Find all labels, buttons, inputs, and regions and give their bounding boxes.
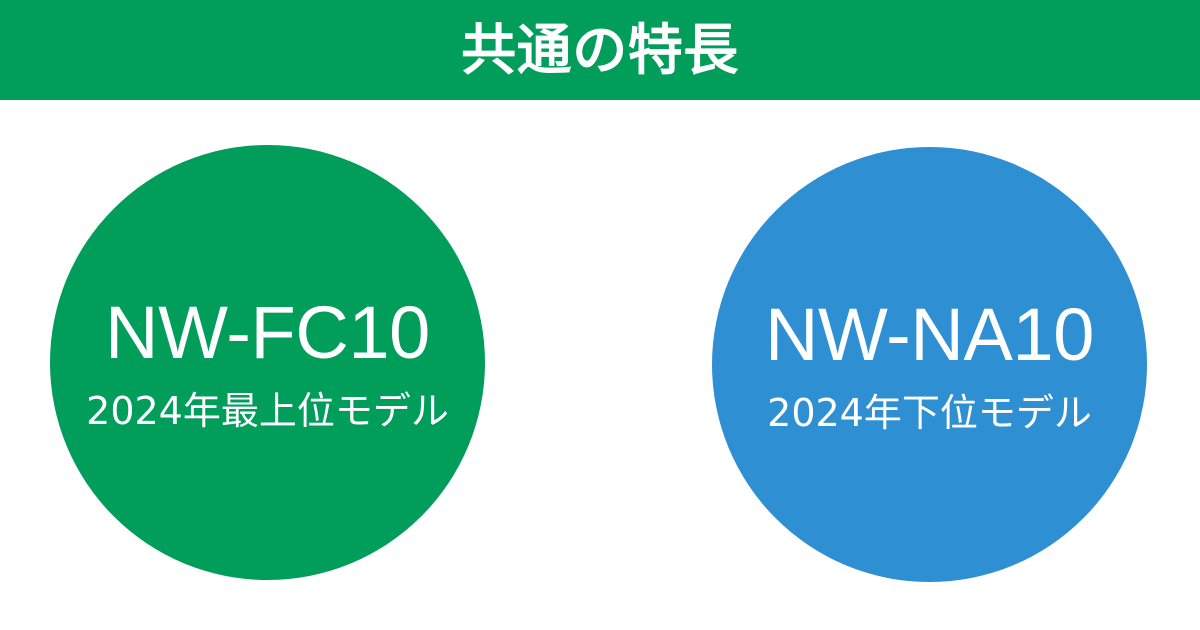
model-circles-container: NW-FC10 2024年最上位モデル NW-NA10 2024年下位モデル xyxy=(0,100,1200,630)
header-band: 共通の特長 xyxy=(0,0,1200,100)
model-description-nw-fc10: 2024年最上位モデル xyxy=(86,392,449,430)
model-description-nw-na10: 2024年下位モデル xyxy=(767,394,1092,432)
page-title: 共通の特長 xyxy=(461,23,739,78)
model-name-nw-na10: NW-NA10 xyxy=(765,298,1094,372)
model-name-nw-fc10: NW-FC10 xyxy=(105,296,430,370)
model-circle-nw-na10: NW-NA10 2024年下位モデル xyxy=(712,147,1147,582)
comparison-banner: 共通の特長 NW-FC10 2024年最上位モデル NW-NA10 2024年下… xyxy=(0,0,1200,630)
model-circle-nw-fc10: NW-FC10 2024年最上位モデル xyxy=(50,145,485,580)
